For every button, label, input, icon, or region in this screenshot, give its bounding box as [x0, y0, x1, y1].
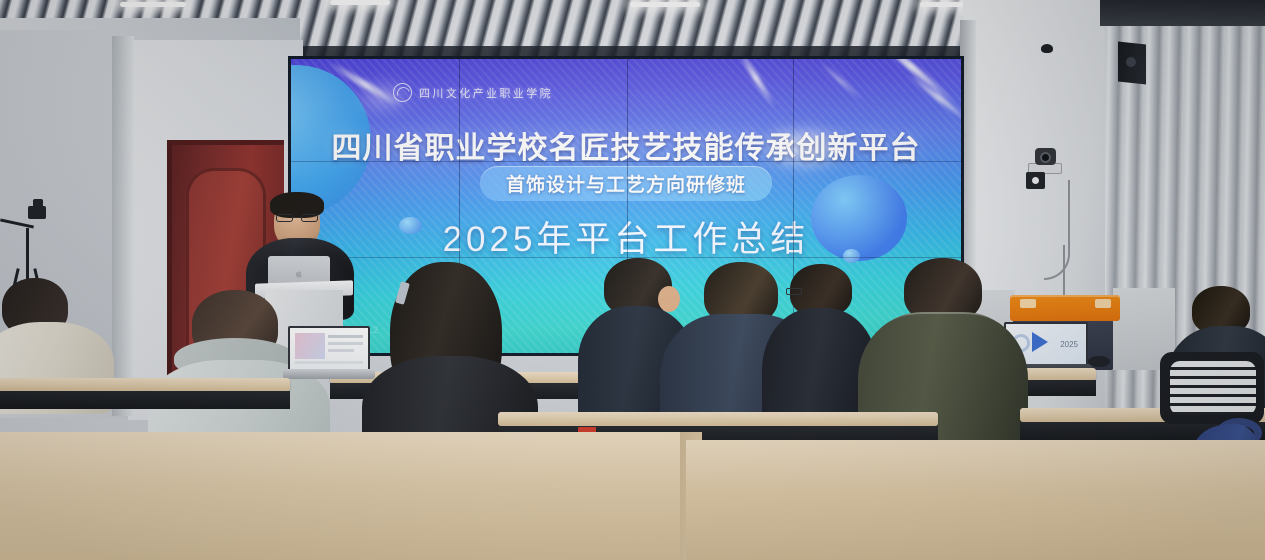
speaker-cone-icon — [1126, 57, 1136, 67]
ceiling-light — [330, 0, 390, 5]
desk-middle-row — [498, 412, 938, 430]
wall-column — [112, 36, 134, 416]
orange-equipment-tab — [1095, 299, 1111, 308]
foreground-desk-left — [0, 432, 690, 560]
glasses-icon — [786, 288, 826, 295]
curtain-rail — [1100, 0, 1265, 26]
camera-lens-icon — [1040, 152, 1051, 163]
desk-left-row — [0, 378, 290, 394]
dome-camera-icon — [1041, 44, 1053, 53]
chair[interactable] — [1160, 352, 1264, 424]
ceiling-light — [120, 2, 186, 7]
ceiling-light — [630, 2, 700, 7]
apple-logo-icon — [293, 268, 304, 280]
foreground-desk-right — [686, 440, 1265, 560]
tripod-camera-top — [33, 199, 43, 207]
panel-seam — [291, 161, 961, 162]
attendee-laptop[interactable] — [286, 326, 372, 384]
camera-cable — [1044, 180, 1070, 280]
ptz-indicator-icon — [1032, 177, 1039, 184]
glasses-icon — [276, 214, 318, 222]
tripod-camera — [28, 206, 46, 219]
computer-mouse[interactable] — [1088, 356, 1110, 367]
photo-scene: 四川文化产业职业学院 四川省职业学校名匠技艺技能传承创新平台 首饰设计与工艺方向… — [0, 0, 1265, 560]
